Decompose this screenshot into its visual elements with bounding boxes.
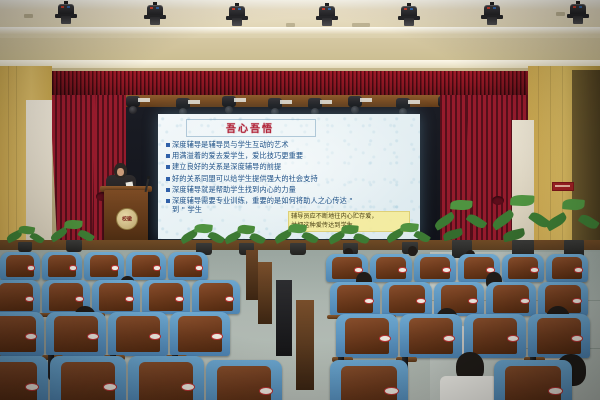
stage-light-ceiling [319,3,335,27]
auditorium-seat [0,280,40,314]
auditorium-seat [494,360,572,400]
auditorium-seat [170,312,230,356]
seat-row-end-panel [258,262,272,324]
auditorium-seat [84,252,124,280]
auditorium-seat [0,312,44,356]
seat-row-end-panel [246,250,258,300]
stage-light-ceiling [229,3,245,27]
auditorium-seat [502,254,544,282]
auditorium-seat [142,280,190,314]
auditorium-seat [370,254,412,282]
ceiling-vent [24,14,33,18]
list-item: 深度辅导就是帮助学生找到内心的力量 [166,185,416,194]
auditorium-seat [486,282,536,316]
auditorium-seat [192,280,240,314]
list-item: 用满溢着的爱去爱学生，爱比技巧更重要 [166,151,416,160]
podium-emblem-text: 校徽 [122,216,132,223]
auditorium-photo: 吾心吾悟 深度辅导是辅导员与学生互动的艺术 用满溢着的爱去爱学生，爱比技巧更重要… [0,0,600,400]
auditorium-seat [0,252,40,280]
stage-light-ceiling [484,2,500,26]
audience-person [440,376,498,400]
stage-light-truss [348,96,362,116]
bullet-text: 建立良好的关系是深度辅导的前提 [172,162,281,171]
auditorium-seat [382,282,432,316]
stage-light-ceiling [147,2,163,26]
ceiling-vent [352,23,370,27]
bullet-text: 好的关系同盟可以给学生提供强大的社会支持 [172,174,318,183]
auditorium-seat [330,360,408,400]
slide-bullet-list: 深度辅导是辅导员与学生互动的艺术 用满溢着的爱去爱学生，爱比技巧更重要 建立良好… [166,140,416,216]
auditorium-seat [528,314,590,358]
list-item: 深度辅导是辅导员与学生互动的艺术 [166,140,416,149]
bullet-text: 深度辅导就是帮助学生找到内心的力量 [172,185,296,194]
bullet-text: 用满溢着的爱去爱学生，爱比技巧更重要 [172,151,303,160]
ceiling-vent [556,12,565,16]
podium-emblem: 校徽 [116,208,138,230]
slide-title: 吾心吾悟 [186,119,314,135]
auditorium-seat [0,356,48,400]
list-item: 好的关系同盟可以给学生提供强大的社会支持 [166,174,416,183]
bullet-square-icon [166,154,170,158]
bullet-square-icon [166,143,170,147]
stage-light-ceiling [401,3,417,27]
ceiling-vent [286,23,295,27]
auditorium-seat [128,356,204,400]
presenter-face [117,168,124,176]
curtain-tieback-right [492,196,504,205]
bullet-square-icon [166,165,170,169]
seat-row-end-panel [296,300,314,390]
ceiling-light-strip [0,0,600,9]
auditorium-seat [126,252,166,280]
bullet-square-icon [166,199,170,203]
bullet-square-icon [166,188,170,192]
stage-light-truss [222,96,236,116]
exit-sign [552,182,574,191]
auditorium-seat [336,314,398,358]
microphone-icon [147,176,150,179]
auditorium-seat [546,254,588,282]
note-line-1: 辅导员应不断地往内心贮存爱， [291,213,407,222]
auditorium-seat [330,282,380,316]
auditorium-seat [414,254,456,282]
valance-shading [0,71,600,97]
stage-light-truss [126,96,140,116]
stage-light-ceiling [570,1,586,25]
auditorium-seat [46,312,106,356]
auditorium-seat [206,360,282,400]
list-item: 建立良好的关系是深度辅导的前提 [166,162,416,171]
auditorium-seat [168,252,208,280]
auditorium-seat [50,356,126,400]
stage-light-ceiling [58,1,74,25]
bullet-text: 深度辅导是辅导员与学生互动的艺术 [172,140,289,149]
auditorium-seat [108,312,168,356]
bullet-square-icon [166,177,170,181]
ceiling-beam [0,27,600,34]
auditorium-seat [400,314,462,358]
auditorium-seat [42,252,82,280]
auditorium-seat [92,280,140,314]
seat-row-end-panel [276,280,292,356]
